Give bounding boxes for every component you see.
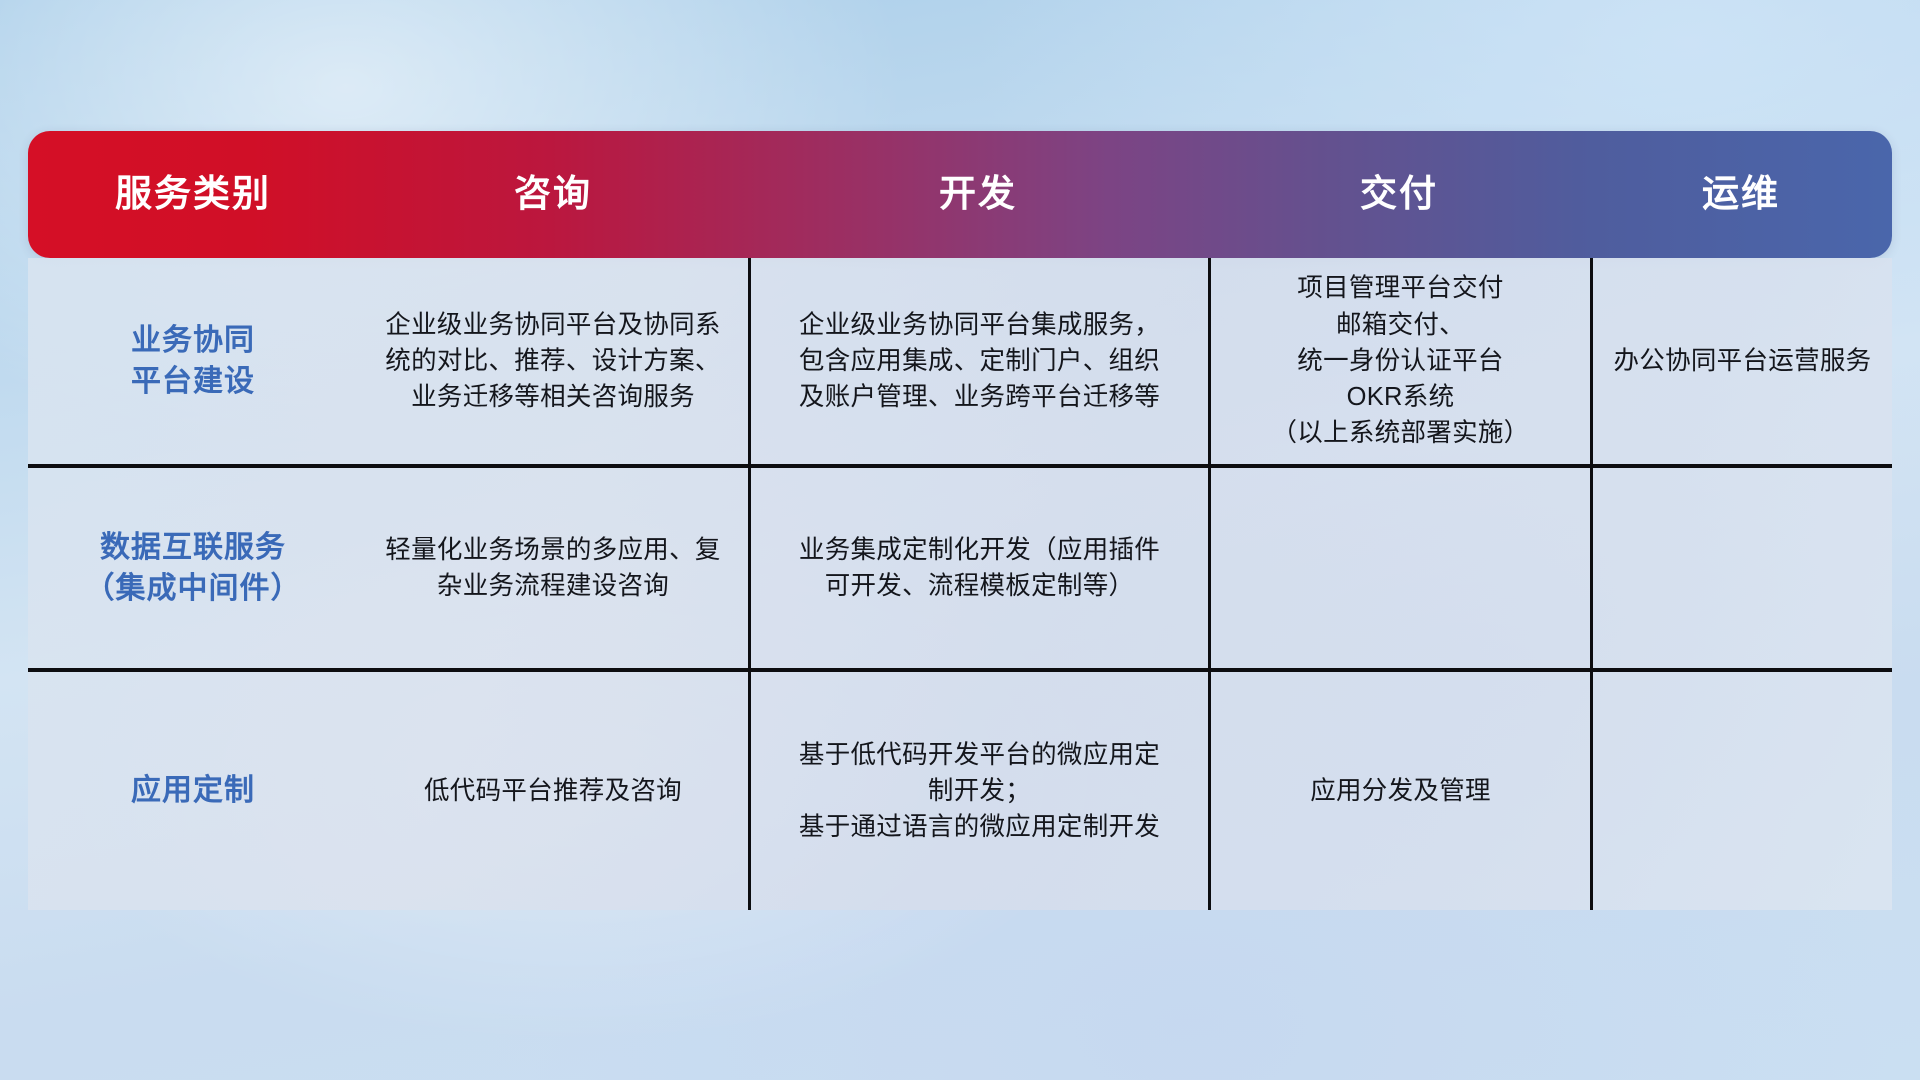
cell-operations	[1590, 468, 1892, 668]
cell-development: 企业级业务协同平台集成服务， 包含应用集成、定制门户、组织 及账户管理、业务跨平…	[748, 258, 1208, 464]
row-label-text: 数据互联服务 （集成中间件）	[85, 527, 302, 610]
table-row: 业务协同 平台建设 企业级业务协同平台及协同系 统的对比、推荐、设计方案、 业务…	[28, 258, 1892, 464]
cell-operations	[1590, 672, 1892, 910]
row-label-cell: 业务协同 平台建设	[28, 258, 358, 464]
table-header-row: 服务类别 咨询 开发 交付 运维	[28, 131, 1892, 258]
table-row: 数据互联服务 （集成中间件） 轻量化业务场景的多应用、复 杂业务流程建设咨询 业…	[28, 464, 1892, 668]
row-label-cell: 应用定制	[28, 672, 358, 910]
cell-consulting: 低代码平台推荐及咨询	[358, 672, 748, 910]
cell-consulting: 轻量化业务场景的多应用、复 杂业务流程建设咨询	[358, 468, 748, 668]
table-body: 业务协同 平台建设 企业级业务协同平台及协同系 统的对比、推荐、设计方案、 业务…	[28, 258, 1892, 910]
cell-consulting: 企业级业务协同平台及协同系 统的对比、推荐、设计方案、 业务迁移等相关咨询服务	[358, 258, 748, 464]
cell-operations: 办公协同平台运营服务	[1590, 258, 1892, 464]
service-matrix-table: 服务类别 咨询 开发 交付 运维 业务协同 平台建设 企业级业务协同平台及协同系…	[28, 131, 1892, 949]
column-header-consulting: 咨询	[358, 174, 748, 215]
column-header-development: 开发	[748, 174, 1208, 215]
cell-delivery	[1208, 468, 1590, 668]
cell-development: 业务集成定制化开发（应用插件 可开发、流程模板定制等）	[748, 468, 1208, 668]
row-label-text: 应用定制	[131, 770, 255, 811]
cell-development: 基于低代码开发平台的微应用定 制开发； 基于通过语言的微应用定制开发	[748, 672, 1208, 910]
column-header-operations: 运维	[1590, 174, 1892, 215]
row-label-text: 业务协同 平台建设	[131, 320, 255, 403]
cell-delivery: 项目管理平台交付 邮箱交付、 统一身份认证平台 OKR系统 （以上系统部署实施）	[1208, 258, 1590, 464]
column-header-delivery: 交付	[1208, 174, 1590, 215]
row-label-cell: 数据互联服务 （集成中间件）	[28, 468, 358, 668]
cell-delivery: 应用分发及管理	[1208, 672, 1590, 910]
column-header-category: 服务类别	[28, 174, 358, 215]
table-row: 应用定制 低代码平台推荐及咨询 基于低代码开发平台的微应用定 制开发； 基于通过…	[28, 668, 1892, 910]
